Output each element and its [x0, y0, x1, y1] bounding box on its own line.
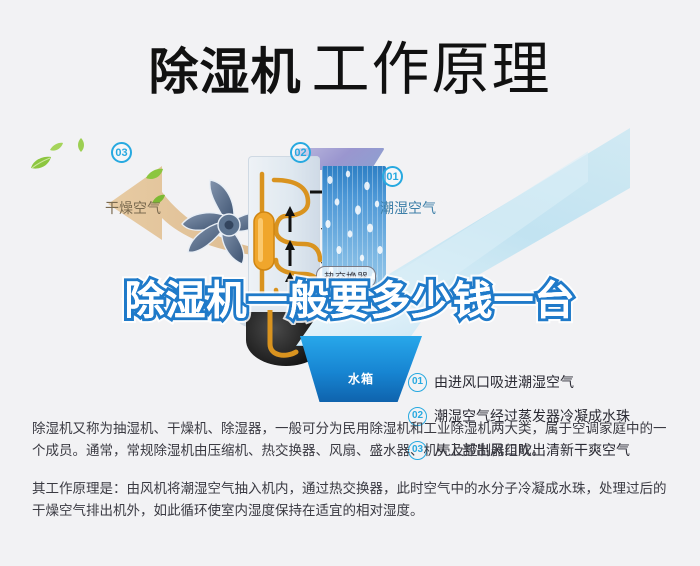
water-tank-label: 水箱: [300, 370, 422, 387]
page-title-part2: 工作原理: [311, 37, 551, 102]
diagram-badge-02: 02: [290, 142, 311, 163]
humid-air-label: 潮湿空气: [380, 198, 436, 218]
legend-item: 01 由进风口吸进潮湿空气: [408, 372, 688, 392]
diagram-badge-01: 01: [382, 166, 403, 187]
page-title-part1: 除湿机: [148, 44, 301, 100]
page-title: 除湿机工作原理: [0, 22, 700, 106]
dehumidifier-diagram: 水箱 02 热交换器 03 干燥空气 01 潮湿空气 01 由进风口吸进潮湿空气…: [0, 120, 700, 390]
body-copy: 除湿机又称为抽湿机、干燥机、除湿器，一般可分为民用除湿机和工业除湿机两大类，属于…: [32, 418, 672, 522]
infographic-page: 除湿机工作原理: [0, 0, 700, 566]
leaf-icon: [146, 168, 164, 181]
leaf-icon: [30, 156, 52, 170]
water-tank: [300, 336, 422, 402]
body-paragraph-2: 其工作原理是：由风机将潮湿空气抽入机内，通过热交换器，此时空气中的水分子冷凝成水…: [32, 478, 672, 522]
leaf-icon: [50, 142, 64, 152]
leaf-icon: [76, 138, 86, 152]
legend-label: 由进风口吸进潮湿空气: [434, 372, 574, 392]
overlay-headline: 除湿机一般要多少钱一台: [0, 268, 700, 326]
body-paragraph-1: 除湿机又称为抽湿机、干燥机、除湿器，一般可分为民用除湿机和工业除湿机两大类，属于…: [32, 418, 672, 462]
dry-air-label: 干燥空气: [105, 198, 161, 218]
diagram-badge-03: 03: [111, 142, 132, 163]
legend-badge: 01: [408, 373, 427, 392]
